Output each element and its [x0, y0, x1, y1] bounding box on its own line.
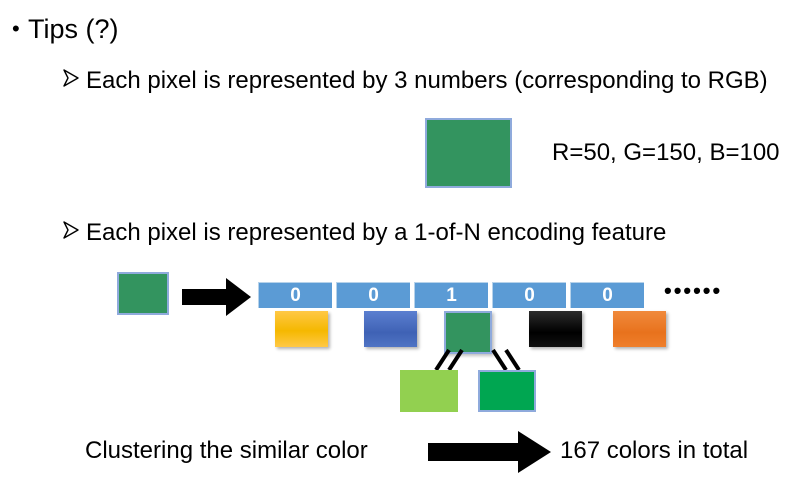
clustering-label: Clustering the similar color — [85, 437, 368, 465]
bullet-dot-icon: • — [12, 12, 28, 46]
arrowhead-bullet-icon — [62, 220, 80, 240]
cluster-tick-left-icon — [432, 348, 468, 372]
slide-canvas: •Tips (?) Each pixel is represented by 3… — [0, 0, 812, 490]
bullet-onehot-label: Each pixel is represented by a 1-of-N en… — [86, 218, 782, 248]
slide-title-text: Tips (?) — [28, 14, 119, 44]
bullet-rgb: Each pixel is represented by 3 numbers (… — [62, 66, 782, 96]
onehot-vector: 0 0 1 0 0 — [258, 282, 644, 308]
bullet-onehot: Each pixel is represented by a 1-of-N en… — [62, 218, 782, 248]
onehot-cell[interactable]: 0 — [570, 282, 644, 308]
bullet-rgb-label: Each pixel is represented by 3 numbers (… — [86, 66, 782, 96]
rgb-color-swatch — [425, 118, 512, 188]
onehot-cell[interactable]: 0 — [336, 282, 410, 308]
slide-title-bullet: •Tips (?) — [12, 12, 119, 46]
right-arrow-icon — [182, 277, 252, 317]
right-arrow-icon — [428, 430, 552, 474]
rgb-values-label: R=50, G=150, B=100 — [552, 139, 780, 167]
pixel-color-swatch — [117, 272, 169, 315]
colors-total-label: 167 colors in total — [560, 437, 748, 465]
onehot-cell[interactable]: 1 — [414, 282, 488, 308]
legend-swatch-black — [529, 311, 582, 347]
legend-swatch-orange — [613, 311, 666, 347]
onehot-cell[interactable]: 0 — [258, 282, 332, 308]
ellipsis-label: •••••• — [664, 278, 722, 304]
legend-swatch-blue — [364, 311, 417, 347]
cluster-swatch-bright-green — [478, 370, 536, 412]
cluster-swatch-light-green — [400, 370, 458, 412]
arrowhead-bullet-icon — [62, 68, 80, 88]
cluster-tick-right-icon — [487, 348, 523, 372]
onehot-cell[interactable]: 0 — [492, 282, 566, 308]
legend-swatch-yellow — [275, 311, 328, 347]
